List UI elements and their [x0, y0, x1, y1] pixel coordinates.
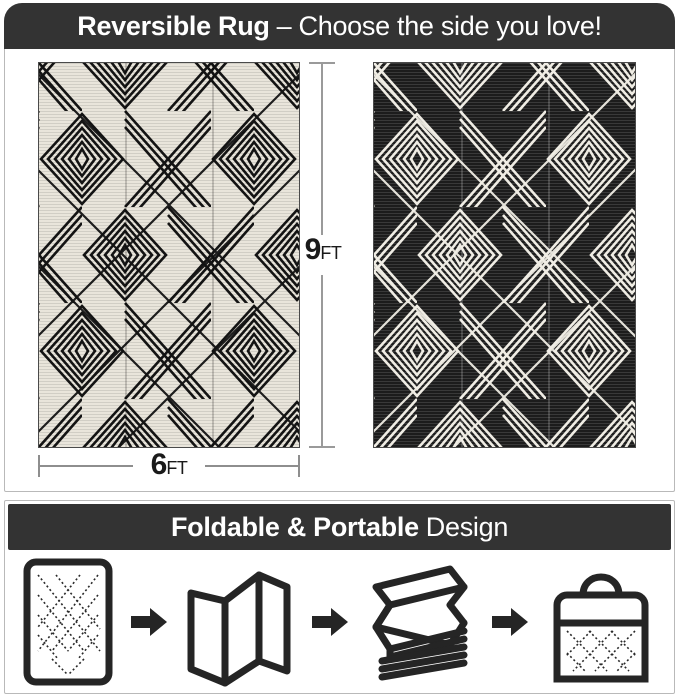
step-carry-bag	[545, 557, 657, 687]
rug-fold-seam	[125, 63, 127, 447]
width-dimension-cap-left	[38, 455, 40, 477]
step-stacked-layers	[364, 557, 476, 687]
arrow-right-icon	[490, 605, 530, 639]
rug-fold-seam	[212, 63, 214, 447]
width-unit: FT	[166, 459, 187, 477]
folded-panels-icon	[183, 557, 295, 687]
bottom-header-light: Design	[426, 512, 508, 543]
rug-side-b	[373, 62, 636, 448]
rug-side-a	[38, 62, 300, 448]
height-dimension-cap-top	[309, 62, 335, 64]
rug-fold-seam	[461, 63, 463, 447]
rug-flat-icon	[22, 557, 114, 687]
height-dimension-label: 9 FT	[300, 235, 346, 275]
rug-fold-seam	[548, 63, 550, 447]
reversible-rug-header: Reversible Rug – Choose the side you lov…	[4, 3, 675, 49]
width-dimension-cap-right	[298, 455, 300, 477]
height-unit: FT	[320, 244, 341, 262]
step-rug-flat	[22, 557, 114, 687]
carry-bag-icon	[545, 557, 657, 687]
header-title-light: – Choose the side you love!	[277, 11, 602, 42]
foldable-steps-row	[8, 554, 671, 690]
step-arrow-3	[490, 605, 530, 639]
arrow-right-icon	[310, 605, 350, 639]
bottom-header-strong: Foldable & Portable	[171, 512, 419, 543]
step-folded-panels	[183, 557, 295, 687]
step-arrow-2	[310, 605, 350, 639]
foldable-portable-header: Foldable & Portable Design	[8, 504, 671, 550]
width-value: 6	[151, 450, 167, 480]
stacked-layers-icon	[364, 557, 476, 687]
arrow-right-icon	[129, 605, 169, 639]
rug-dark-pattern	[374, 63, 635, 447]
header-title-strong: Reversible Rug	[77, 11, 269, 42]
height-value: 9	[305, 235, 321, 265]
rug-light-pattern	[39, 63, 299, 447]
step-arrow-1	[129, 605, 169, 639]
width-dimension-label: 6 FT	[133, 450, 205, 482]
height-dimension-cap-bottom	[309, 446, 335, 448]
infographic-page: Reversible Rug – Choose the side you lov…	[0, 0, 679, 699]
